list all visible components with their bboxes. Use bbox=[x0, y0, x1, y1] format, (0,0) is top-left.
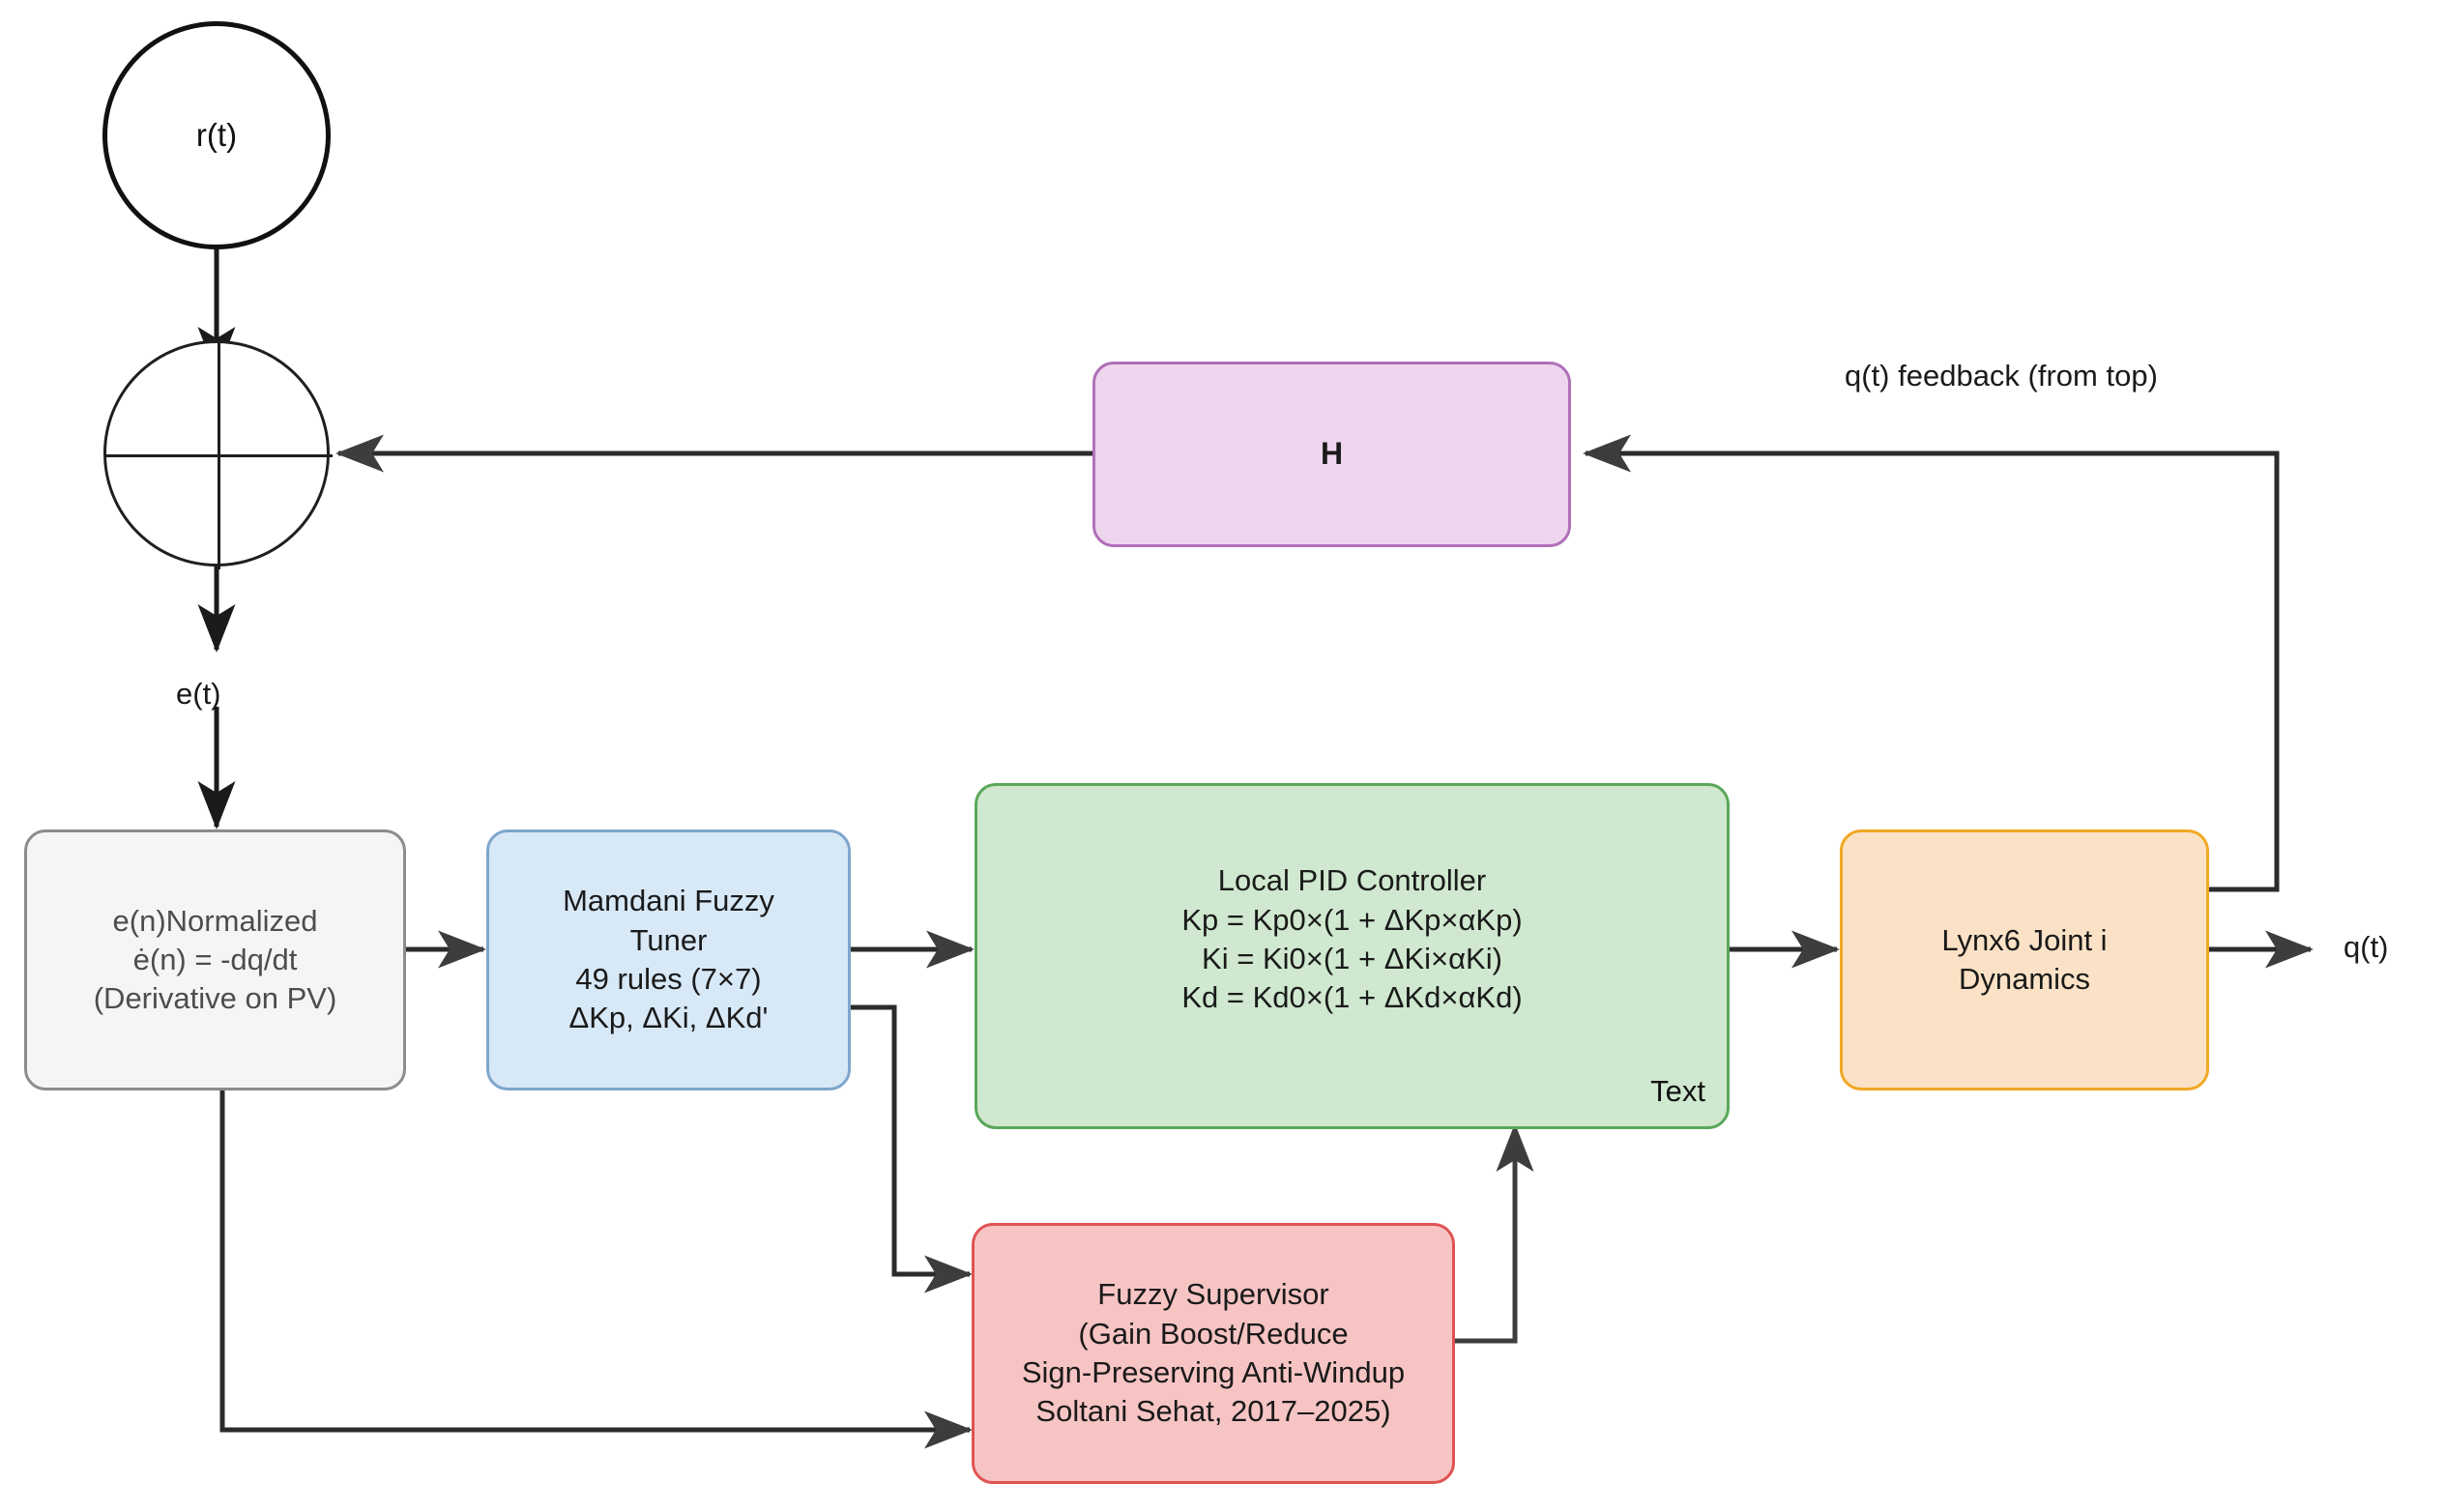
pid-corner-text-label: Text bbox=[1650, 1074, 1705, 1109]
pid-controller-block[interactable]: Local PID Controller Kp = Kp0×(1 + ΔKp×α… bbox=[975, 783, 1730, 1129]
error-signal-label: e(t) bbox=[176, 677, 221, 712]
supervisor-line-1: Fuzzy Supervisor bbox=[1097, 1275, 1328, 1314]
edge-fuzzy-tuner-to-supervisor bbox=[851, 1007, 970, 1274]
fuzzy-tuner-line-2: Tuner bbox=[630, 921, 708, 960]
supervisor-line-4: Soltani Sehat, 2017–2025) bbox=[1035, 1392, 1390, 1431]
reference-source-node[interactable]: r(t) bbox=[102, 21, 331, 249]
edge-supervisor-to-pid bbox=[1455, 1126, 1515, 1341]
plant-block[interactable]: Lynx6 Joint i Dynamics bbox=[1840, 829, 2209, 1090]
diagram-canvas: r(t) e(t) e(n)Normalized ė(n) = -dq/dt (… bbox=[0, 0, 2445, 1512]
pid-line-3: Ki = Ki0×(1 + ΔKi×αKi) bbox=[1202, 940, 1502, 978]
edge-normalizer-to-supervisor bbox=[222, 1090, 970, 1430]
fuzzy-tuner-block[interactable]: Mamdani Fuzzy Tuner 49 rules (7×7) ΔKp, … bbox=[486, 829, 851, 1090]
normalizer-line-2: ė(n) = -dq/dt bbox=[133, 941, 298, 979]
fuzzy-tuner-line-3: 49 rules (7×7) bbox=[575, 960, 761, 999]
feedback-gain-block[interactable]: H bbox=[1092, 362, 1571, 547]
pid-line-2: Kp = Kp0×(1 + ΔKp×αKp) bbox=[1181, 901, 1522, 940]
reference-label: r(t) bbox=[196, 117, 237, 154]
pid-line-1: Local PID Controller bbox=[1218, 861, 1486, 900]
fuzzy-tuner-line-4: ΔKp, ΔKi, ΔKd' bbox=[569, 999, 769, 1037]
pid-line-4: Kd = Kd0×(1 + ΔKd×αKd) bbox=[1181, 978, 1522, 1017]
normalizer-block[interactable]: e(n)Normalized ė(n) = -dq/dt (Derivative… bbox=[24, 829, 406, 1090]
plant-line-2: Dynamics bbox=[1959, 960, 2090, 999]
summing-junction-node[interactable] bbox=[103, 340, 330, 567]
summing-cross-vertical bbox=[218, 343, 220, 569]
supervisor-block[interactable]: Fuzzy Supervisor (Gain Boost/Reduce Sign… bbox=[972, 1223, 1455, 1484]
plant-line-1: Lynx6 Joint i bbox=[1941, 921, 2107, 960]
supervisor-line-3: Sign-Preserving Anti-Windup bbox=[1022, 1353, 1405, 1392]
fuzzy-tuner-line-1: Mamdani Fuzzy bbox=[563, 882, 774, 920]
feedback-note-label: q(t) feedback (from top) bbox=[1845, 359, 2158, 393]
normalizer-line-1: e(n)Normalized bbox=[113, 902, 318, 941]
normalizer-line-3: (Derivative on PV) bbox=[94, 979, 337, 1018]
output-signal-label: q(t) bbox=[2343, 930, 2389, 965]
feedback-gain-label: H bbox=[1321, 434, 1343, 475]
supervisor-line-2: (Gain Boost/Reduce bbox=[1078, 1315, 1348, 1353]
